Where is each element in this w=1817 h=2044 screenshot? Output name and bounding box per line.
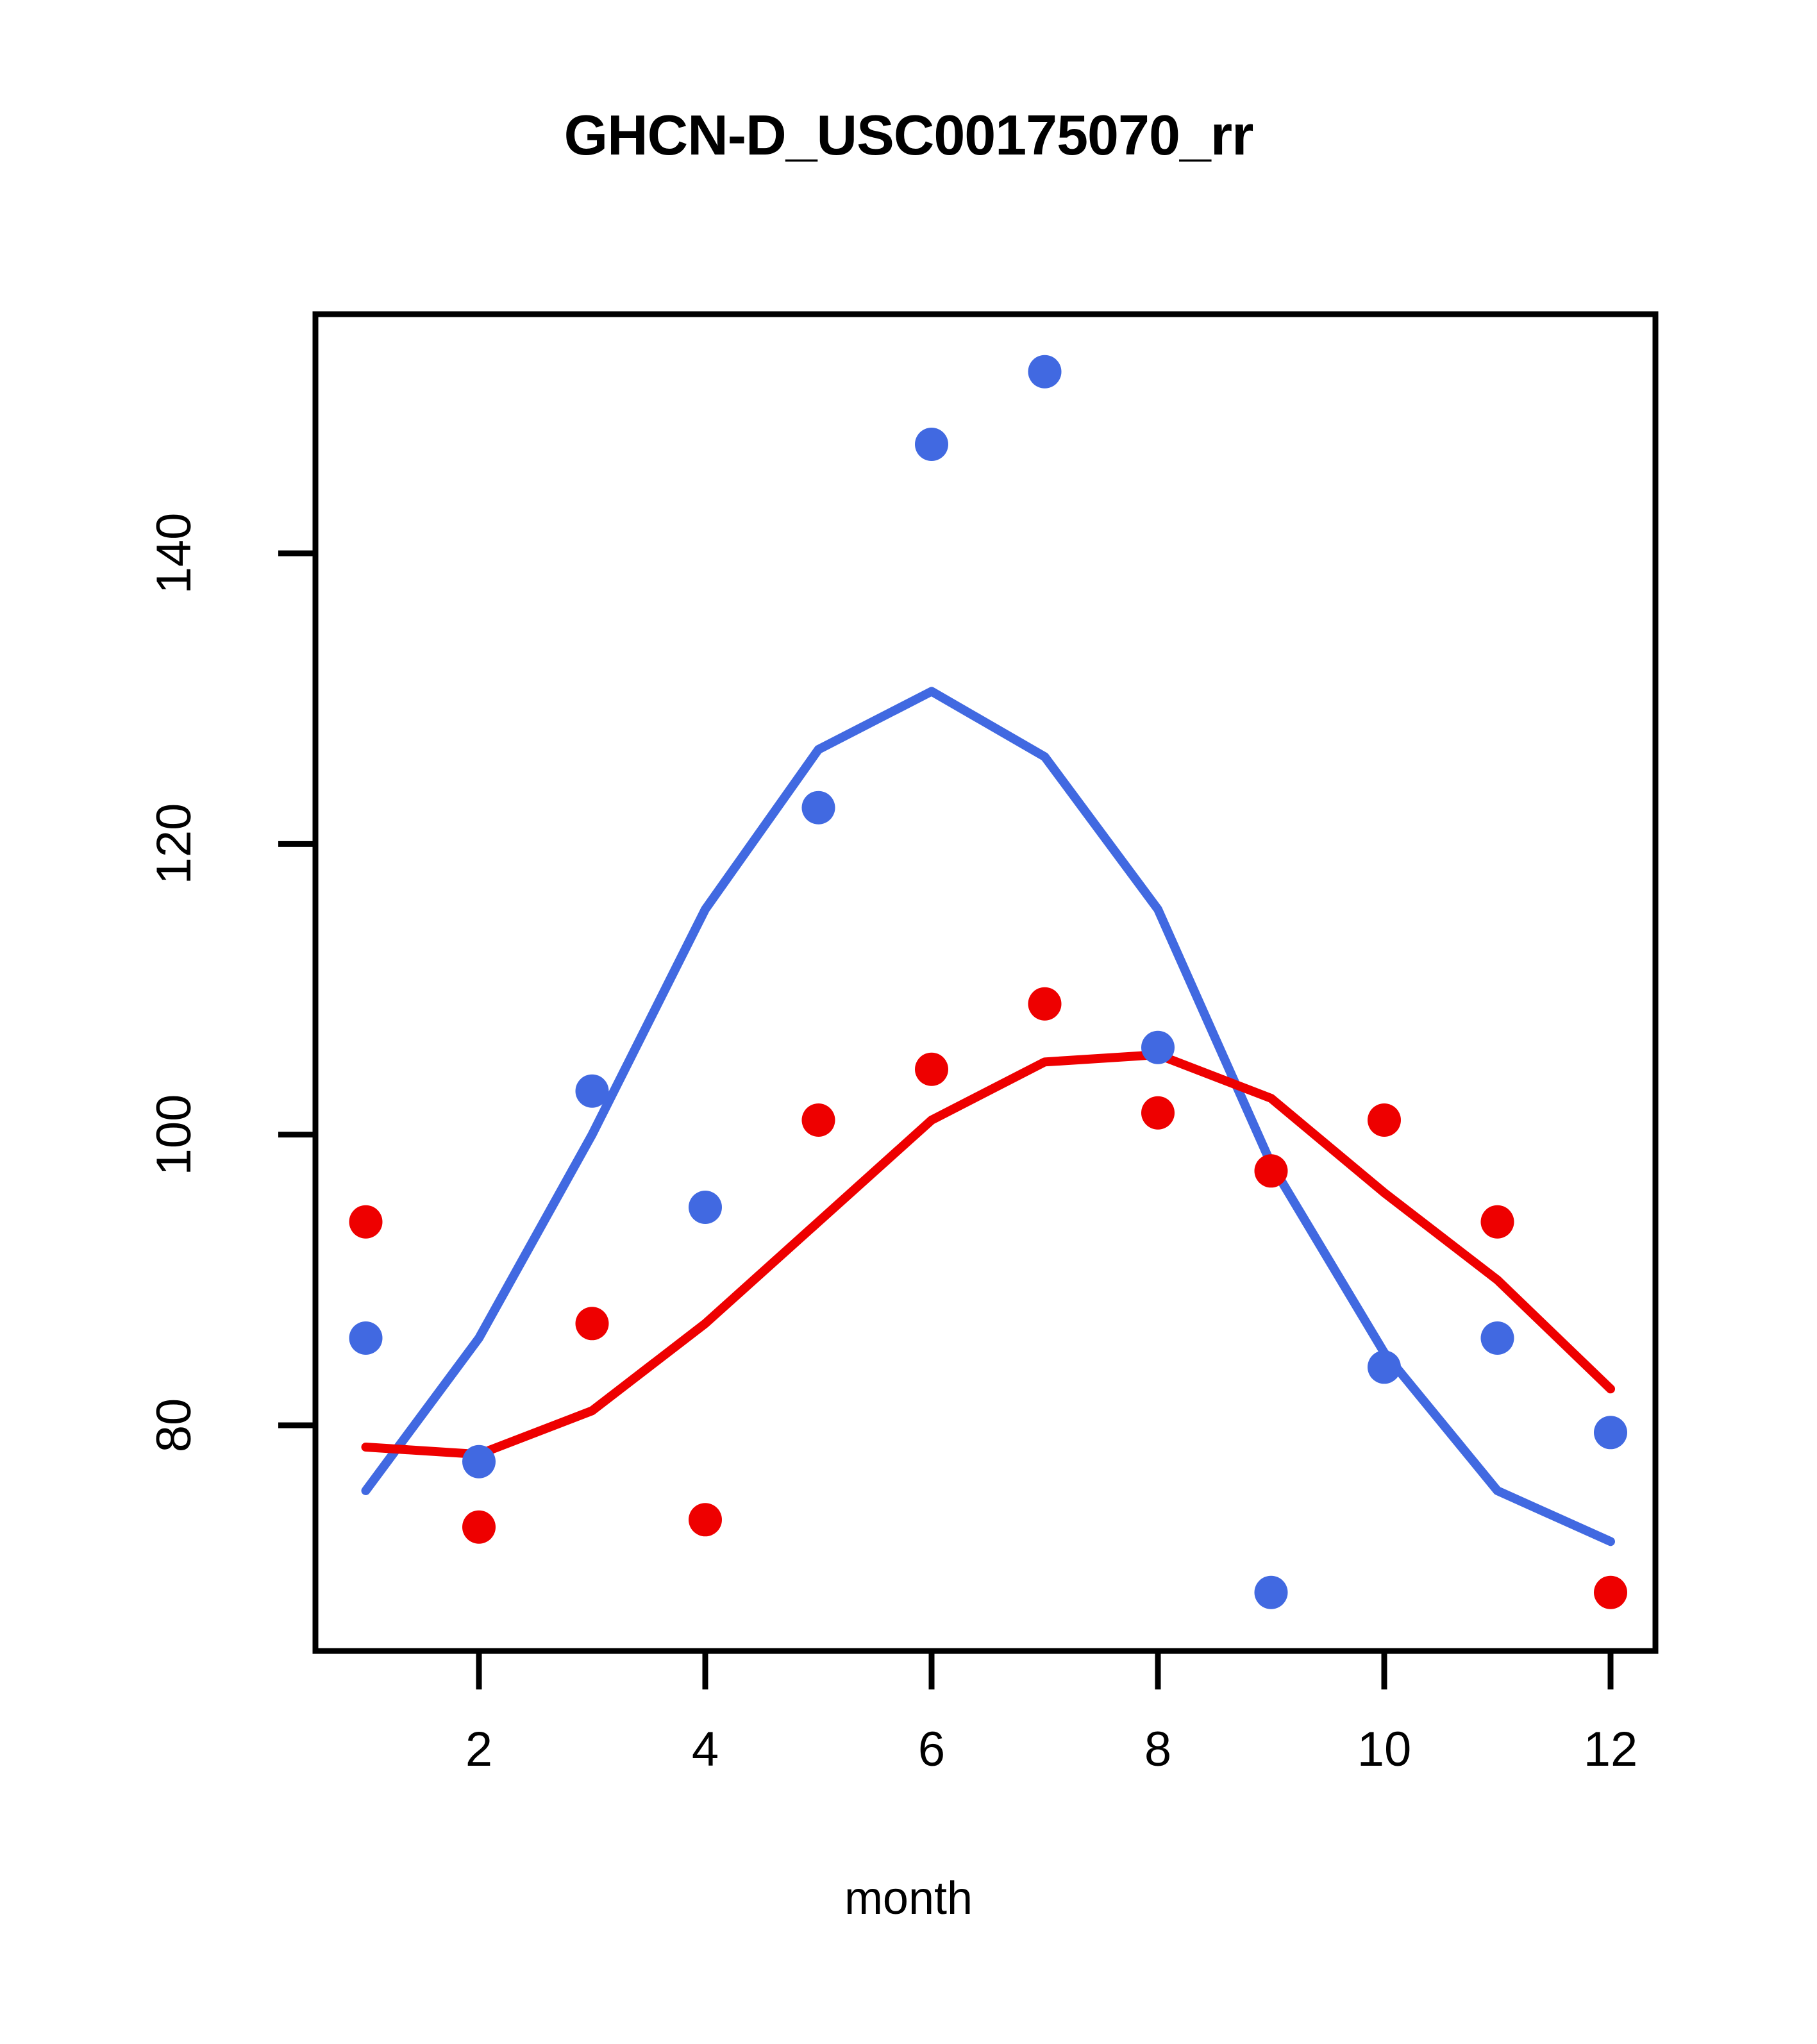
data-point-red-points — [1028, 987, 1062, 1021]
x-tick-label: 8 — [1144, 1721, 1171, 1777]
x-axis-label: month — [0, 1872, 1817, 1925]
data-point-red-points — [1141, 1096, 1175, 1130]
data-point-red-points — [349, 1205, 383, 1239]
data-point-blue-points — [1028, 355, 1062, 389]
data-point-red-points — [689, 1503, 722, 1536]
plot-frame — [315, 314, 1655, 1651]
x-tick-label: 10 — [1357, 1721, 1412, 1777]
data-point-blue-points — [349, 1321, 383, 1355]
data-point-blue-points — [1594, 1416, 1627, 1449]
data-point-blue-points — [462, 1445, 496, 1479]
y-tick-label: 140 — [110, 518, 239, 589]
data-point-blue-points — [576, 1075, 609, 1108]
data-point-blue-points — [802, 791, 835, 825]
data-point-blue-points — [915, 428, 948, 461]
data-point-blue-points — [1255, 1576, 1288, 1609]
y-tick-label-text: 120 — [139, 780, 210, 908]
y-tick-label: 100 — [110, 1100, 239, 1170]
plot-figure: GHCN-D_USC00175070_rr 246810128010012014… — [0, 0, 1817, 2044]
y-tick-label-text: 140 — [139, 489, 210, 617]
data-point-blue-points — [1368, 1350, 1401, 1384]
y-tick-label-text: 80 — [139, 1361, 210, 1489]
y-tick-label: 120 — [110, 808, 239, 879]
data-point-red-points — [1255, 1154, 1288, 1187]
x-tick-label: 4 — [692, 1721, 719, 1777]
data-point-red-points — [802, 1103, 835, 1137]
data-point-blue-points — [1141, 1031, 1175, 1064]
x-tick-label: 12 — [1584, 1721, 1638, 1777]
x-tick-label: 2 — [465, 1721, 492, 1777]
x-tick-label: 6 — [918, 1721, 945, 1777]
series-line-blue-smooth-line — [366, 691, 1611, 1541]
y-tick-label-text: 100 — [139, 1071, 210, 1199]
data-point-blue-points — [689, 1191, 722, 1224]
data-point-red-points — [1594, 1576, 1627, 1609]
data-point-red-points — [915, 1053, 948, 1086]
data-point-blue-points — [1481, 1321, 1514, 1355]
data-point-red-points — [1481, 1205, 1514, 1239]
data-point-red-points — [576, 1307, 609, 1340]
data-point-red-points — [1368, 1103, 1401, 1137]
chart-canvas — [0, 0, 1817, 2044]
y-tick-label: 80 — [110, 1390, 239, 1461]
data-point-red-points — [462, 1511, 496, 1544]
